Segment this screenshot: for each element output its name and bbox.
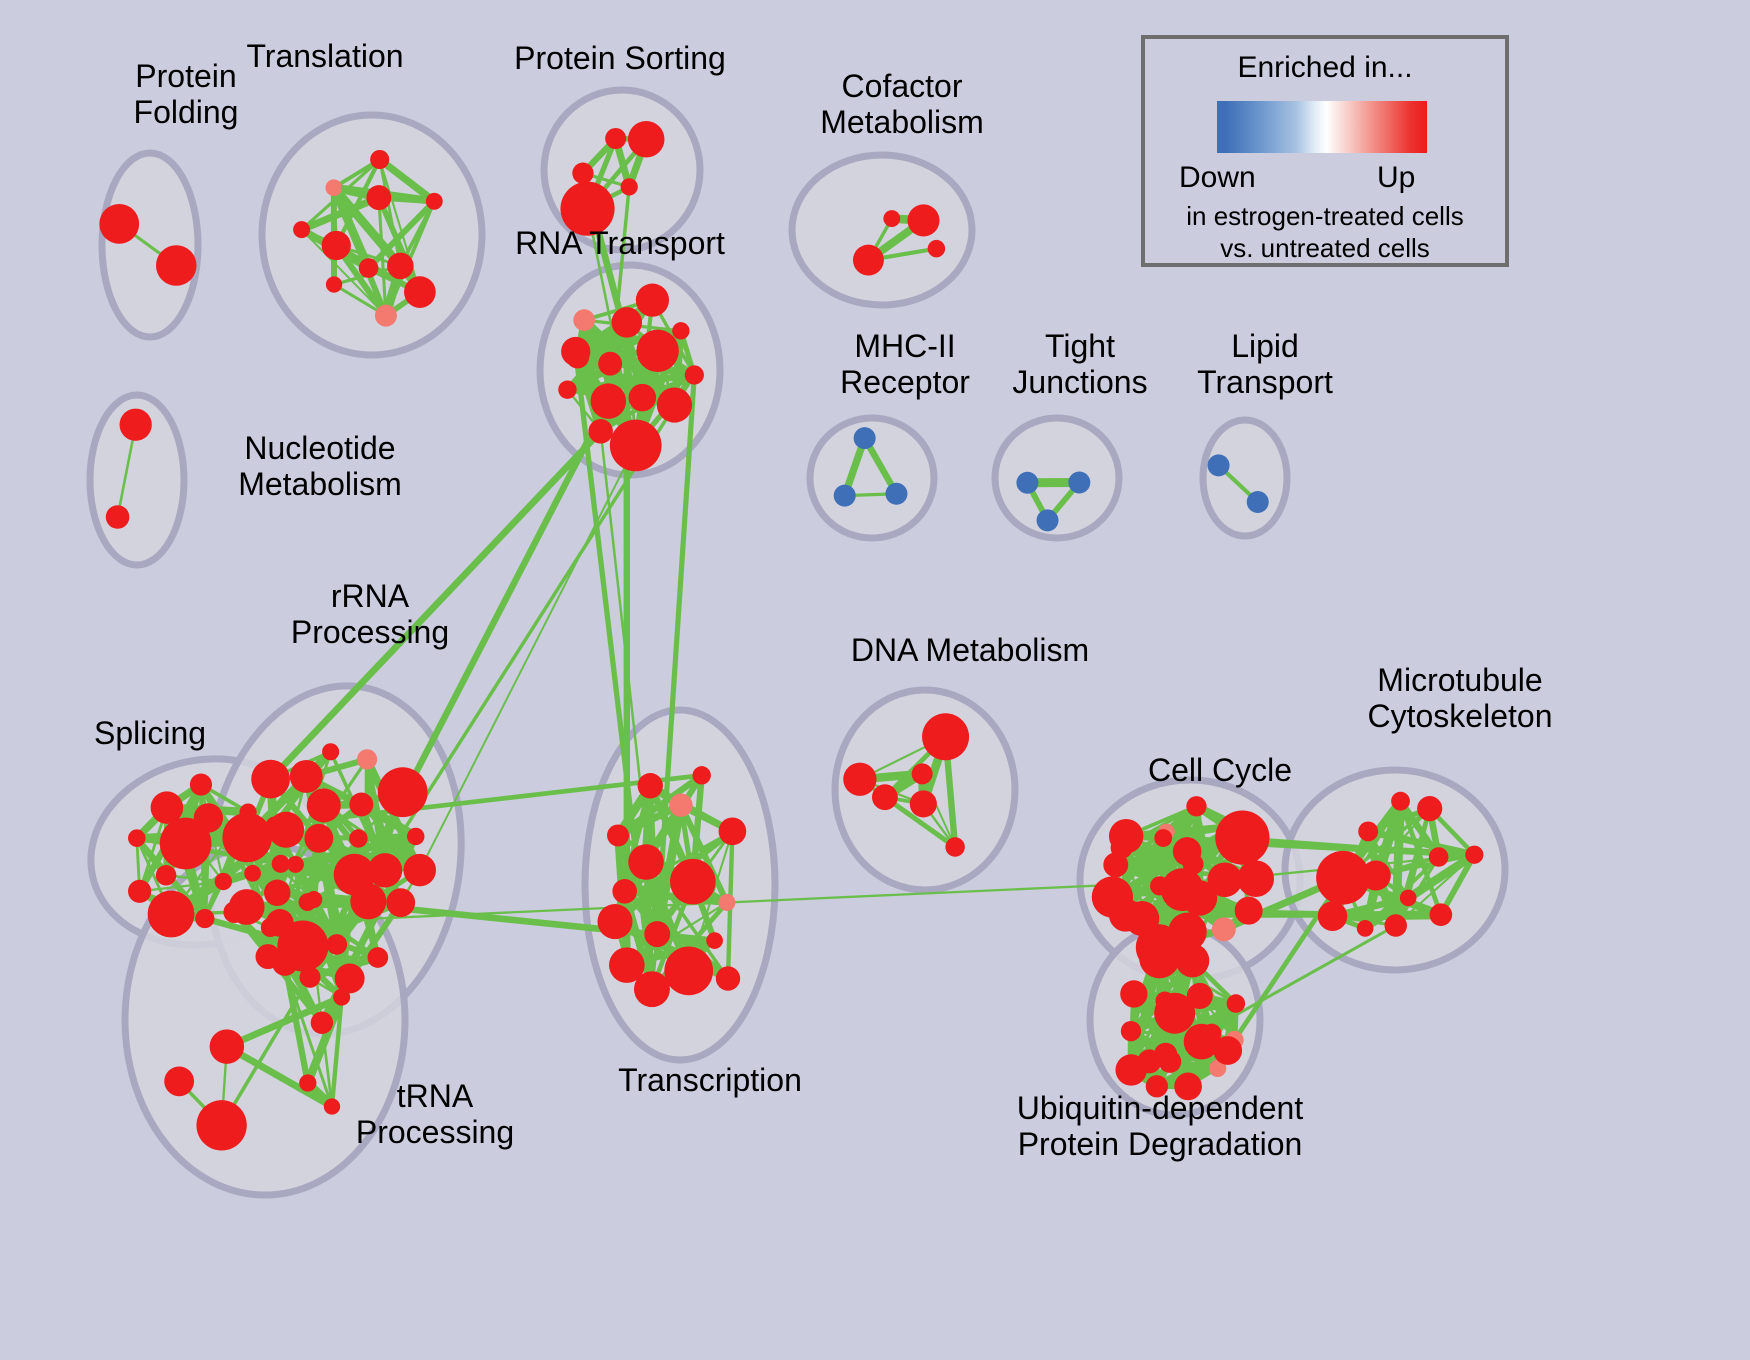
node-enriched-up[interactable]	[561, 337, 590, 366]
node-enriched-up[interactable]	[324, 1098, 340, 1114]
legend-colorbar	[1217, 101, 1427, 153]
node-enriched-up[interactable]	[244, 865, 261, 882]
node-enriched-up[interactable]	[251, 760, 290, 799]
node-enriched-up[interactable]	[261, 918, 280, 937]
legend-caption-line-2: vs. untreated cells	[1145, 233, 1505, 264]
node-enriched-up[interactable]	[264, 880, 290, 906]
node-enriched-up[interactable]	[304, 824, 333, 853]
node-enriched-up[interactable]	[1109, 899, 1142, 932]
node-enriched-weak-up[interactable]	[357, 749, 377, 769]
node-enriched-up[interactable]	[1208, 862, 1243, 897]
node-enriched-up[interactable]	[1400, 890, 1417, 907]
node-enriched-up[interactable]	[210, 1029, 245, 1064]
node-enriched-weak-up[interactable]	[669, 794, 692, 817]
node-enriched-down[interactable]	[854, 427, 876, 449]
node-enriched-up[interactable]	[128, 829, 146, 847]
node-enriched-up[interactable]	[359, 258, 379, 278]
node-enriched-up[interactable]	[1111, 837, 1133, 859]
node-enriched-up[interactable]	[326, 934, 347, 955]
node-enriched-down[interactable]	[885, 483, 907, 505]
node-enriched-up[interactable]	[368, 853, 402, 887]
node-enriched-up[interactable]	[558, 380, 576, 398]
node-enriched-up[interactable]	[597, 904, 632, 939]
cluster-hull-cofactor-metabolism	[792, 155, 972, 305]
node-enriched-up[interactable]	[612, 879, 637, 904]
node-enriched-up[interactable]	[657, 387, 692, 422]
node-enriched-up[interactable]	[629, 384, 657, 412]
node-enriched-up[interactable]	[611, 307, 642, 338]
node-enriched-up[interactable]	[299, 1074, 316, 1091]
node-enriched-up[interactable]	[1391, 792, 1410, 811]
node-enriched-weak-up[interactable]	[375, 305, 397, 327]
node-enriched-up[interactable]	[922, 713, 969, 760]
node-enriched-up[interactable]	[322, 231, 351, 260]
node-enriched-up[interactable]	[598, 352, 622, 376]
node-enriched-up[interactable]	[1146, 1075, 1168, 1097]
node-enriched-up[interactable]	[843, 763, 876, 796]
node-enriched-up[interactable]	[610, 420, 662, 472]
node-enriched-up[interactable]	[349, 829, 367, 847]
node-enriched-up[interactable]	[1154, 993, 1195, 1034]
node-enriched-down[interactable]	[834, 485, 856, 507]
node-enriched-up[interactable]	[287, 856, 304, 873]
node-enriched-up[interactable]	[607, 824, 629, 846]
node-enriched-up[interactable]	[1161, 868, 1204, 911]
node-enriched-up[interactable]	[672, 322, 689, 339]
node-enriched-up[interactable]	[156, 245, 197, 286]
legend-low-label: Down	[1179, 161, 1256, 195]
node-enriched-up[interactable]	[366, 185, 391, 210]
node-enriched-up[interactable]	[367, 947, 388, 968]
node-enriched-up[interactable]	[349, 793, 373, 817]
node-enriched-up[interactable]	[1173, 837, 1202, 866]
node-enriched-up[interactable]	[370, 150, 389, 169]
node-enriched-up[interactable]	[151, 791, 184, 824]
node-enriched-up[interactable]	[378, 767, 428, 817]
node-enriched-up[interactable]	[1384, 914, 1407, 937]
node-enriched-up[interactable]	[883, 210, 900, 227]
node-enriched-up[interactable]	[1130, 1056, 1149, 1075]
node-enriched-up[interactable]	[588, 419, 612, 443]
node-enriched-up[interactable]	[693, 766, 711, 784]
node-enriched-up[interactable]	[1186, 796, 1206, 816]
node-enriched-up[interactable]	[910, 790, 937, 817]
node-enriched-up[interactable]	[1237, 860, 1274, 897]
node-enriched-up[interactable]	[609, 947, 645, 983]
node-enriched-up[interactable]	[945, 837, 964, 856]
legend-title: Enriched in...	[1145, 51, 1505, 85]
network-figure: Protein FoldingTranslationProtein Sortin…	[0, 0, 1750, 1360]
node-enriched-up[interactable]	[1318, 901, 1348, 931]
node-enriched-up[interactable]	[222, 813, 272, 863]
node-enriched-up[interactable]	[1176, 944, 1210, 978]
node-enriched-up[interactable]	[1159, 1050, 1182, 1073]
node-enriched-up[interactable]	[99, 204, 139, 244]
legend-high-label: Up	[1377, 161, 1415, 195]
node-enriched-up[interactable]	[387, 253, 414, 280]
node-enriched-up[interactable]	[1227, 994, 1245, 1012]
node-enriched-up[interactable]	[853, 245, 884, 276]
node-enriched-up[interactable]	[1154, 829, 1172, 847]
node-enriched-up[interactable]	[407, 828, 424, 845]
node-enriched-up[interactable]	[350, 883, 386, 919]
node-enriched-up[interactable]	[120, 409, 152, 441]
node-enriched-up[interactable]	[293, 221, 310, 238]
node-enriched-up[interactable]	[719, 817, 747, 845]
node-enriched-up[interactable]	[621, 178, 638, 195]
node-enriched-down[interactable]	[1208, 454, 1230, 476]
node-enriched-weak-up[interactable]	[1212, 917, 1236, 941]
node-enriched-up[interactable]	[560, 182, 614, 236]
node-enriched-up[interactable]	[685, 365, 704, 384]
inter-cluster-edge	[271, 431, 601, 779]
node-enriched-up[interactable]	[664, 947, 713, 996]
node-enriched-up[interactable]	[591, 383, 627, 419]
node-enriched-up[interactable]	[311, 1012, 333, 1034]
node-enriched-up[interactable]	[106, 505, 130, 529]
node-enriched-up[interactable]	[194, 803, 223, 832]
node-enriched-up[interactable]	[1357, 920, 1374, 937]
node-enriched-up[interactable]	[907, 204, 939, 236]
node-enriched-up[interactable]	[404, 276, 436, 308]
node-enriched-up[interactable]	[299, 967, 320, 988]
node-enriched-weak-up[interactable]	[325, 179, 342, 196]
node-enriched-up[interactable]	[1316, 851, 1370, 905]
node-enriched-up[interactable]	[1213, 1036, 1242, 1065]
node-enriched-up[interactable]	[628, 121, 664, 157]
node-enriched-up[interactable]	[872, 784, 898, 810]
node-enriched-up[interactable]	[1465, 846, 1483, 864]
node-enriched-up[interactable]	[335, 964, 365, 994]
node-enriched-up[interactable]	[290, 760, 323, 793]
node-enriched-up[interactable]	[1235, 897, 1263, 925]
node-enriched-up[interactable]	[195, 909, 214, 928]
node-enriched-down[interactable]	[1068, 472, 1090, 494]
node-enriched-up[interactable]	[196, 1100, 246, 1150]
legend-box: Enriched in... Down Up in estrogen-treat…	[1141, 35, 1509, 267]
node-enriched-down[interactable]	[1016, 472, 1038, 494]
node-enriched-weak-up[interactable]	[573, 309, 595, 331]
legend-caption-line-1: in estrogen-treated cells	[1145, 201, 1505, 232]
node-enriched-down[interactable]	[1037, 509, 1059, 531]
node-enriched-up[interactable]	[299, 893, 317, 911]
node-enriched-up[interactable]	[272, 855, 290, 873]
node-enriched-up[interactable]	[148, 891, 195, 938]
node-enriched-up[interactable]	[1120, 980, 1147, 1007]
node-enriched-up[interactable]	[128, 880, 151, 903]
node-enriched-up[interactable]	[716, 966, 740, 990]
node-enriched-up[interactable]	[190, 773, 212, 795]
node-enriched-up[interactable]	[636, 330, 678, 372]
cluster-hull-lipid-transport	[1203, 420, 1287, 536]
node-enriched-up[interactable]	[403, 854, 436, 887]
node-enriched-up[interactable]	[426, 193, 443, 210]
node-enriched-up[interactable]	[1417, 796, 1442, 821]
node-enriched-up[interactable]	[223, 901, 245, 923]
node-enriched-up[interactable]	[912, 763, 933, 784]
node-enriched-up[interactable]	[644, 921, 670, 947]
node-enriched-up[interactable]	[928, 240, 945, 257]
node-enriched-up[interactable]	[1139, 938, 1180, 979]
node-enriched-up[interactable]	[1430, 903, 1453, 926]
node-enriched-up[interactable]	[307, 788, 341, 822]
node-enriched-up[interactable]	[1358, 821, 1378, 841]
node-enriched-up[interactable]	[1227, 816, 1248, 837]
node-enriched-up[interactable]	[605, 128, 626, 149]
node-enriched-up[interactable]	[638, 773, 663, 798]
node-enriched-up[interactable]	[1174, 1073, 1202, 1101]
node-enriched-up[interactable]	[215, 873, 232, 890]
node-enriched-up[interactable]	[333, 989, 350, 1006]
node-enriched-up[interactable]	[670, 859, 716, 905]
node-enriched-up[interactable]	[322, 743, 339, 760]
node-enriched-up[interactable]	[326, 276, 342, 292]
node-enriched-up[interactable]	[164, 1066, 194, 1096]
node-enriched-up[interactable]	[272, 950, 298, 976]
node-enriched-up[interactable]	[636, 284, 669, 317]
node-enriched-up[interactable]	[572, 163, 593, 184]
node-enriched-weak-up[interactable]	[718, 894, 735, 911]
node-enriched-up[interactable]	[386, 888, 415, 917]
node-enriched-up[interactable]	[156, 865, 176, 885]
node-enriched-up[interactable]	[1429, 847, 1449, 867]
node-enriched-up[interactable]	[1121, 1021, 1141, 1041]
node-enriched-down[interactable]	[1247, 491, 1269, 513]
node-enriched-up[interactable]	[706, 932, 723, 949]
node-enriched-up[interactable]	[628, 844, 664, 880]
